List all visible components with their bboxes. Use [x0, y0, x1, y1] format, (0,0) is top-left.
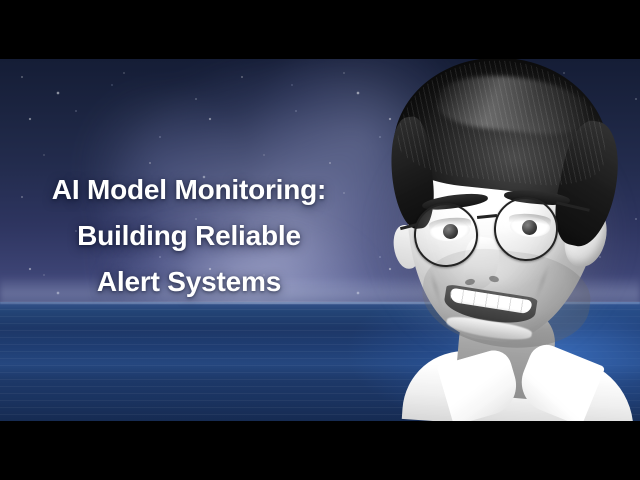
video-thumbnail: AI Model Monitoring: Building Reliable A…	[0, 0, 640, 480]
speaker-portrait	[352, 59, 640, 421]
background-scene: AI Model Monitoring: Building Reliable A…	[0, 59, 640, 421]
letterbox-bar-bottom	[0, 421, 640, 480]
letterbox-bar-top	[0, 0, 640, 59]
